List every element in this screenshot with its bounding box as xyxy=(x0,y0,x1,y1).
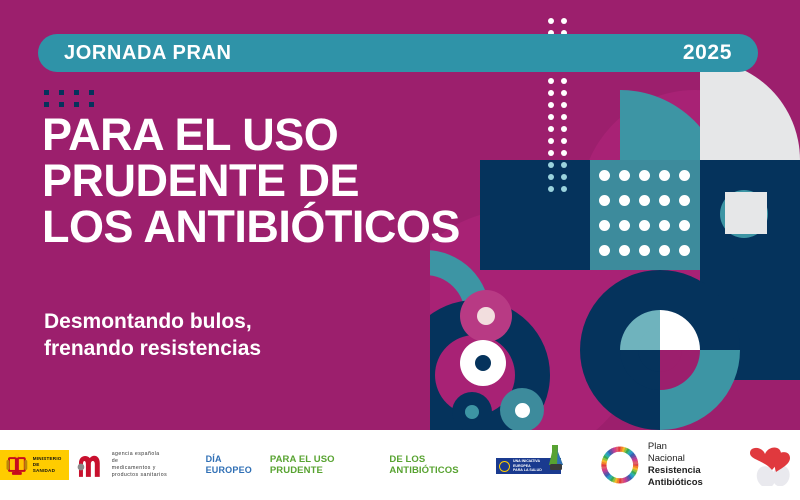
logo-dia-europeo: DÍA EUROPEO PARA EL USO PRUDENTE DE LOS … xyxy=(206,454,562,476)
pran-ring-icon xyxy=(599,444,641,486)
grey-square xyxy=(725,192,767,234)
heart-icon xyxy=(744,444,800,486)
navy-dot-circle xyxy=(452,392,492,430)
subtitle: Desmontando bulos, frenando resistencias xyxy=(44,308,374,362)
ministerio-line-2: DE SANIDAD xyxy=(33,462,63,474)
pill-bottle-icon xyxy=(545,445,565,471)
footer-logo-bar: MINISTERIO DE SANIDAD agencia española d… xyxy=(0,430,800,500)
event-label: JORNADA PRAN xyxy=(64,42,232,65)
subtitle-line-2: frenando resistencias xyxy=(44,335,374,362)
dia-europeo-line-2: PARA EL USO PRUDENTE xyxy=(270,454,390,476)
plan-nacional-line-3: Antibióticos xyxy=(648,477,703,488)
teal-dot-circle-bottom xyxy=(500,388,544,430)
logo-aemps: agencia española de medicamentos y produ… xyxy=(77,451,168,479)
aemps-line-3: productos sanitarios xyxy=(112,472,168,479)
donut-graphic xyxy=(580,270,740,430)
white-quarter-circle xyxy=(700,60,800,160)
title-line-2: PRUDENTE DE xyxy=(42,158,512,204)
plan-nacional-line-1: Plan Nacional xyxy=(648,441,706,465)
spain-coat-of-arms-icon xyxy=(6,453,28,477)
year-label: 2025 xyxy=(683,41,732,65)
dia-europeo-line-3: DE LOS ANTIBIÓTICOS xyxy=(389,454,496,476)
pink-dot-circle xyxy=(460,290,512,342)
eu-stars-icon xyxy=(499,461,510,472)
white-dot-circle xyxy=(460,340,506,386)
aemps-line-1: agencia española de xyxy=(112,451,168,465)
page-title: PARA EL USO PRUDENTE DE LOS ANTIBIÓTICOS xyxy=(42,112,512,250)
logo-plan-nacional: Plan Nacional Resistencia Antibióticos xyxy=(599,441,706,489)
subtitle-line-1: Desmontando bulos, xyxy=(44,308,374,335)
title-line-3: LOS ANTIBIÓTICOS xyxy=(42,204,512,250)
logo-ministerio-de-sanidad: MINISTERIO DE SANIDAD agencia española d… xyxy=(0,450,168,480)
logo-heart-pills xyxy=(744,444,800,486)
dia-europeo-line-1: DÍA EUROPEO xyxy=(206,454,270,476)
aemps-mark-icon xyxy=(77,452,107,478)
header-pill: JORNADA PRAN 2025 xyxy=(38,34,758,72)
teal-dotted-square xyxy=(590,160,700,270)
poster: JORNADA PRAN 2025 PARA EL USO PRUDENTE D… xyxy=(0,0,800,500)
plan-nacional-line-2: Resistencia xyxy=(648,465,701,476)
title-line-1: PARA EL USO xyxy=(42,112,512,158)
aemps-line-2: medicamentos y xyxy=(112,465,168,472)
